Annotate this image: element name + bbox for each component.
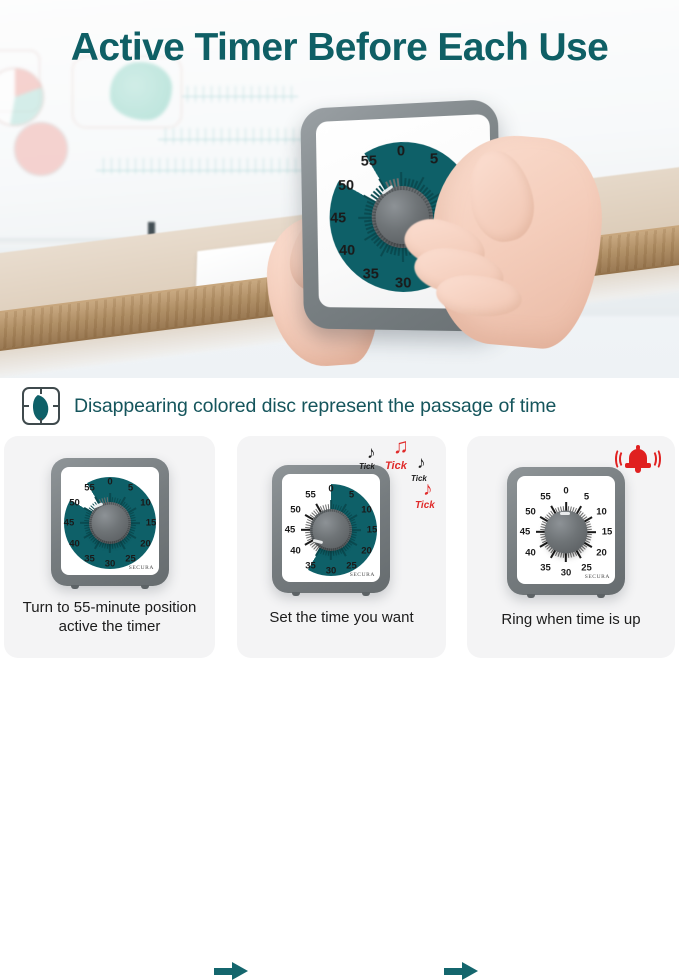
dial-number: 5 [349,489,354,500]
step1-brand-label: SECURA [129,565,154,571]
dial-number: 30 [395,274,412,291]
step2-brand-label: SECURA [350,572,375,578]
dial-number: 30 [326,566,337,577]
dial-number: 10 [596,506,607,517]
dial-number: 35 [363,266,379,283]
dial-number: 0 [328,484,333,495]
step3-caption-line1: Ring when time is up [467,610,675,629]
dial-number: 25 [581,562,592,573]
tick-label-4: Tick [415,500,435,511]
music-note-2: ♫ [393,436,409,457]
dial-number: 35 [540,562,551,573]
dial-number: 30 [561,568,572,579]
step1-foot-left [71,585,79,589]
dial-number: 15 [602,527,613,538]
dial-number: 0 [397,142,406,159]
alarm-bell-icon [615,444,661,478]
dial-tick [330,550,332,560]
step2-knob[interactable] [313,512,350,549]
dial-number: 15 [146,518,157,529]
bell-clapper [635,468,641,473]
arrow-1-shaft [214,968,234,975]
step-arrow-1 [214,962,248,980]
disc-icon-notch-bottom [40,418,42,424]
dial-number: 20 [361,545,372,556]
dial-number: 25 [125,553,136,564]
dial-number: 20 [140,538,151,549]
subtitle-text: Disappearing colored disc represent the … [74,395,556,418]
bell-wave-left-2 [615,448,625,470]
dial-number: 30 [105,559,116,570]
dial-number: 45 [285,525,296,536]
whiteboard-wave-2 [158,128,308,144]
steps-section: 0510152025303540455055 SECURA Turn to 55… [0,434,679,661]
step3-foot-left [527,594,535,598]
dial-number: 40 [69,538,80,549]
whiteboard-pie-chart-2 [14,122,68,176]
dial-tick [400,172,403,187]
dial-number: 25 [346,560,357,571]
step2-caption: Set the time you want [237,608,446,627]
dial-number: 35 [84,553,95,564]
dial-number: 55 [84,482,95,493]
step3-knob[interactable] [545,511,588,554]
dial-number: 40 [339,242,355,259]
dial-number: 15 [367,525,378,536]
step-arrow-2 [444,962,478,980]
whiteboard-line-3 [96,170,308,171]
music-note-4: ♪ [423,480,433,499]
step1-foot-right [141,585,149,589]
step1-caption-line2: active the timer [4,617,215,636]
dial-number: 45 [330,209,346,226]
step3-dial[interactable]: 0510152025303540455055 [517,482,615,582]
step1-caption: Turn to 55-minute position active the ti… [4,598,215,636]
step3-brand-label: SECURA [585,574,610,580]
dial-number: 50 [69,497,80,508]
step3-timer-face: 0510152025303540455055 SECURA [517,476,615,584]
dial-tick [401,247,404,262]
disappearing-disc-icon [22,387,60,425]
arrow-1-head [232,962,248,980]
step3-caption: Ring when time is up [467,610,675,629]
dial-number: 5 [430,150,439,167]
subtitle-bar: Disappearing colored disc represent the … [0,380,679,432]
ticking-sound-notes: ♪ Tick ♫ Tick ♪ Tick ♪ Tick [357,436,447,514]
whiteboard-wave-3 [96,158,306,174]
dial-number: 50 [290,504,301,515]
dial-tick [109,543,111,553]
step1-knob[interactable] [92,505,129,542]
dial-tick [358,216,373,219]
tick-label-2: Tick [385,460,407,472]
disc-icon-notch-top [40,388,42,394]
step-panel-ring: 0510152025303540455055 SECURA Ring when … [467,436,675,658]
step3-foot-right [597,594,605,598]
arrow-2-head [462,962,478,980]
step2-foot-right [362,592,370,596]
dial-tick [565,552,567,562]
hero-scene: 0510152025303540455055 SECURA Active Tim… [0,0,679,378]
step2-foot-left [292,592,300,596]
dial-number: 35 [305,560,316,571]
step1-caption-line1: Turn to 55-minute position [4,598,215,617]
music-note-3: ♪ [417,454,426,471]
bell-wave-right-2 [651,448,661,470]
step1-timer-face: 0510152025303540455055 SECURA [61,467,159,575]
dial-number: 55 [305,489,316,500]
step-panel-set: 0510152025303540455055 SECURA ♪ Tick ♫ T… [237,436,446,658]
dial-number: 50 [338,177,354,194]
whiteboard-blob-shape [110,62,172,120]
disc-icon-notch-right [53,405,59,407]
tick-label-1: Tick [359,462,375,471]
disc-icon-notch-left [23,405,29,407]
dial-number: 5 [584,491,589,502]
step3-timer-device[interactable]: 0510152025303540455055 SECURA [507,467,625,595]
dial-number: 10 [140,497,151,508]
step2-caption-line1: Set the time you want [237,608,446,627]
arrow-2-shaft [444,968,464,975]
dial-number: 5 [128,482,133,493]
music-note-1: ♪ [367,444,376,461]
step-panel-turn: 0510152025303540455055 SECURA Turn to 55… [4,436,215,658]
dial-number: 40 [290,545,301,556]
dial-number: 20 [596,547,607,558]
dial-number: 50 [525,506,536,517]
step1-timer-device[interactable]: 0510152025303540455055 SECURA [51,458,169,586]
dial-number: 55 [540,491,551,502]
dial-tick [398,247,400,256]
dial-number: 55 [361,152,377,169]
page-title: Active Timer Before Each Use [0,26,679,70]
whiteboard-line-1 [182,96,298,97]
dial-number: 0 [107,477,112,488]
dial-number: 45 [520,527,531,538]
whiteboard-line-2 [158,139,308,140]
step1-dial[interactable]: 0510152025303540455055 [61,473,159,573]
dial-number: 0 [563,486,568,497]
dial-number: 40 [525,547,536,558]
step3-knob-indicator [560,512,570,515]
disc-crescent-shape [31,393,54,422]
whiteboard-wave-1 [180,86,298,102]
dial-number: 45 [64,518,75,529]
